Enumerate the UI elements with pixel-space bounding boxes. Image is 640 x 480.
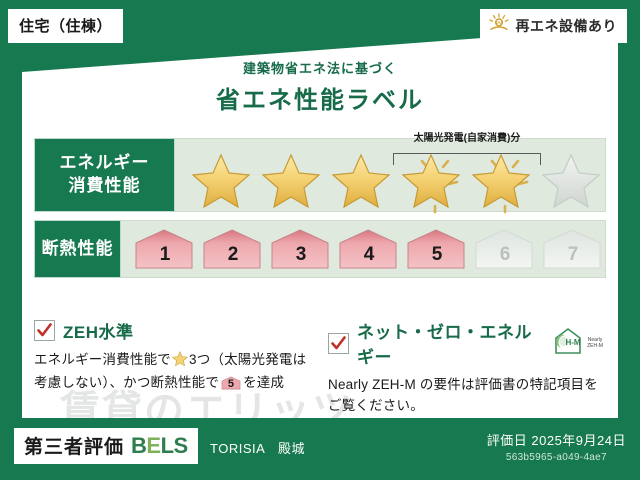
note-title: ネット・ゼロ・エネルギー (357, 318, 540, 368)
energy-performance-label-cell: エネルギー 消費性能 (34, 138, 175, 212)
star-5-solar (467, 146, 535, 210)
svg-text:H-M: H-M (565, 338, 580, 347)
evaluation-id: 563b5965-a049-4ae7 (487, 452, 626, 463)
star-2 (257, 146, 325, 210)
footer-bar: 第三者評価 BELS TORISIA 殿城 評価日 2025年9月24日 563… (0, 418, 640, 480)
energy-performance-label: 住宅（住棟） PV 再エネ設備あり 建築物省エネ法に基づく 省エネ性能ラベル (0, 0, 640, 480)
energy-label-line1: エネルギー (60, 152, 150, 175)
insulation-chip-1: 1 (133, 227, 197, 271)
bels-letter-s: S (174, 433, 188, 458)
check-icon (328, 333, 349, 354)
star-4-solar (397, 146, 465, 210)
notes-section: ZEH水準 エネルギー消費性能で 3つ（太陽光発電は考慮しない）、かつ断熱性能で… (34, 318, 606, 417)
insulation-chip-2: 2 (201, 227, 265, 271)
check-icon (34, 320, 55, 341)
insulation-performance-row: 断熱性能 1 (34, 220, 606, 278)
solar-bracket-label: 太陽光発電(自家消費)分 (371, 129, 563, 144)
note-net-zero-energy: ネット・ゼロ・エネルギー H-M Nearly ZEH-M Nearly ZEH… (328, 318, 606, 417)
chip-label: 5 (432, 244, 443, 271)
insulation-chip-inline: 5 (221, 375, 241, 391)
evaluation-date: 評価日 2025年9月24日 (487, 430, 626, 449)
insulation-chip-5: 5 (405, 227, 469, 271)
insulation-rating-cell: 1 2 3 (121, 220, 606, 278)
star-3 (327, 146, 395, 210)
zeh-m-house-logo: H-M Nearly ZEH-M (552, 327, 606, 360)
chip-label: 2 (228, 244, 239, 271)
bels-certification-plate: 第三者評価 BELS (14, 428, 198, 464)
renewable-badge-label: 再エネ設備あり (516, 16, 618, 36)
svg-text:PV: PV (496, 21, 502, 26)
insulation-label-cell: 断熱性能 (34, 220, 121, 278)
chip-label: 1 (160, 244, 171, 271)
logo-caption-2: ZEH-M (587, 343, 603, 349)
star-rating (175, 146, 605, 210)
insulation-chip-7: 7 (541, 227, 605, 271)
energy-label-line2: 消費性能 (69, 175, 141, 198)
bels-letter-e: E (146, 433, 160, 458)
heading-subtitle: 建築物省エネ法に基づく (0, 58, 640, 77)
evaluation-date-label: 評価日 (487, 433, 528, 448)
bels-letter-l: L (161, 433, 174, 458)
insulation-chip-3: 3 (269, 227, 333, 271)
bels-letter-b: B (131, 433, 146, 458)
star-1 (187, 146, 255, 210)
chip-label: 6 (500, 244, 511, 271)
insulation-chip-6: 6 (473, 227, 537, 271)
note-header: ZEH水準 (34, 318, 312, 343)
star-icon (172, 351, 188, 373)
chip-label: 5 (221, 377, 241, 391)
category-tab: 住宅（住棟） (8, 9, 123, 43)
renewable-equipment-badge: PV 再エネ設備あり (480, 9, 628, 43)
chip-label: 4 (364, 244, 375, 271)
energy-performance-row: エネルギー 消費性能 太陽光発電(自家消費)分 (34, 138, 606, 212)
note-title: ZEH水準 (63, 318, 134, 343)
star-6-empty (537, 146, 605, 210)
note-zeh-standard: ZEH水準 エネルギー消費性能で 3つ（太陽光発電は考慮しない）、かつ断熱性能で… (34, 318, 312, 417)
energy-rating-cell: 太陽光発電(自家消費)分 (175, 138, 606, 212)
chip-label: 3 (296, 244, 307, 271)
note-text-part3: を達成 (243, 375, 284, 390)
evaluation-info: 評価日 2025年9月24日 563b5965-a049-4ae7 (487, 430, 626, 463)
note-body: Nearly ZEH-M の要件は評価書の特記項目をご覧ください。 (328, 375, 606, 417)
insulation-chip-4: 4 (337, 227, 401, 271)
metrics-section: エネルギー 消費性能 太陽光発電(自家消費)分 (34, 138, 606, 286)
note-text-part1: エネルギー消費性能で (34, 352, 171, 367)
property-name: TORISIA 殿城 (210, 438, 305, 457)
note-header: ネット・ゼロ・エネルギー H-M Nearly ZEH-M (328, 318, 606, 368)
chip-label: 7 (568, 244, 579, 271)
heading-title: 省エネ性能ラベル (0, 80, 640, 115)
sun-icon: PV (488, 13, 510, 38)
evaluation-date-value: 2025年9月24日 (531, 433, 626, 448)
note-body: エネルギー消費性能で 3つ（太陽光発電は考慮しない）、かつ断熱性能で 5を達成 (34, 350, 312, 394)
insulation-level-chips: 1 2 3 (121, 227, 605, 271)
bels-logo: BELS (131, 433, 188, 459)
label-heading: 建築物省エネ法に基づく 省エネ性能ラベル (0, 58, 640, 115)
third-party-eval-label: 第三者評価 (24, 432, 124, 459)
